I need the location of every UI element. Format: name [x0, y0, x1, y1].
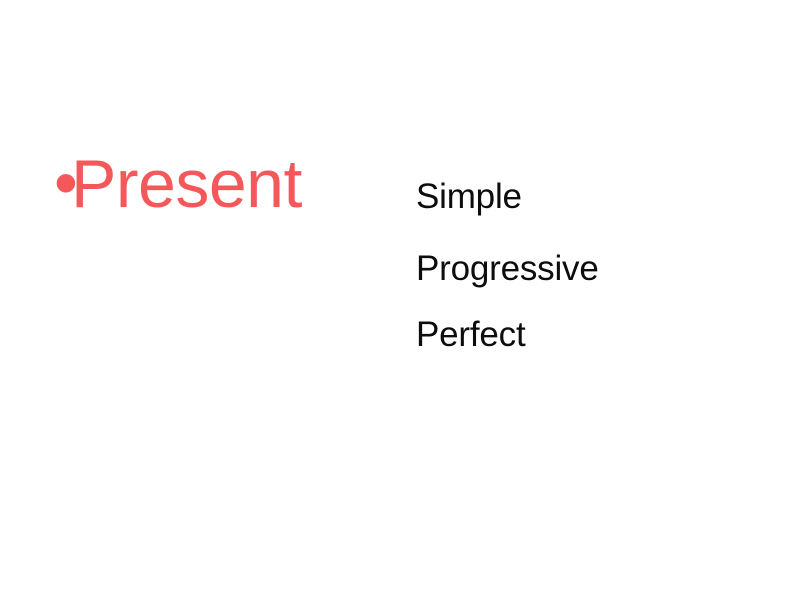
- list-item-progressive: Progressive: [416, 250, 599, 288]
- bullet-icon: •: [54, 149, 71, 217]
- tense-list: Simple Progressive Perfect: [416, 178, 599, 354]
- list-item-perfect: Perfect: [416, 316, 599, 354]
- page-title: Present: [71, 150, 302, 218]
- slide-canvas: • Present Simple Progressive Perfect: [0, 0, 800, 600]
- heading-bullet-row: • Present: [54, 150, 302, 218]
- list-item-simple: Simple: [416, 178, 599, 216]
